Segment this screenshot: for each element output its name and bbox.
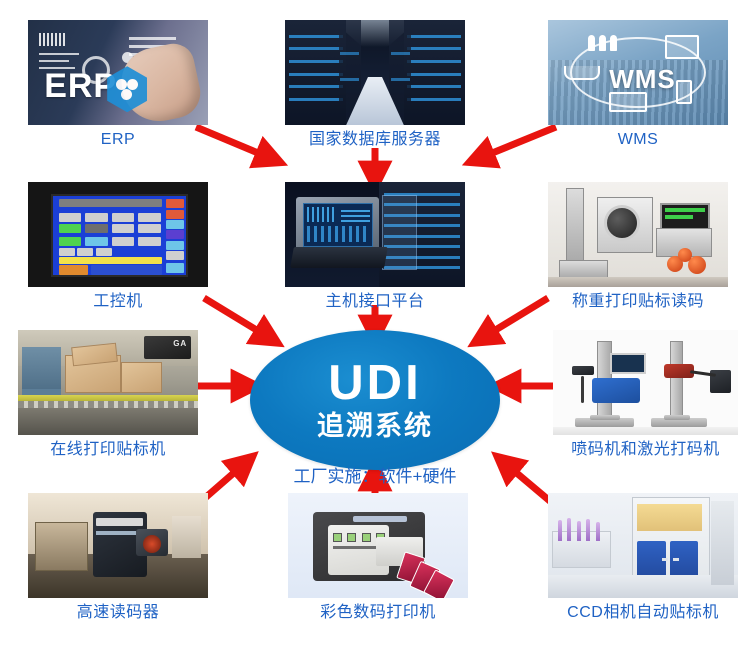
- erp-dashboard-photo: ERP ERP: [28, 20, 208, 125]
- wms-image-text: WMS: [609, 64, 676, 95]
- arrow-weigh-to-center: [484, 298, 548, 337]
- wms-logistics-photo: WMS: [548, 20, 728, 125]
- node-label-fast-reader: 高速读码器: [77, 603, 160, 623]
- server-rack-laptop-photo: [285, 182, 465, 287]
- node-online-labeler[interactable]: GA 在线打印贴标机: [18, 330, 198, 460]
- node-label-color-printer: 彩色数码打印机: [320, 603, 436, 623]
- node-national-db[interactable]: 国家数据库服务器: [285, 20, 465, 150]
- udi-diagram-canvas: UDI 追溯系统 工厂实施：软件+硬件 E: [0, 0, 750, 650]
- server-room-datacenter-photo: [285, 20, 465, 125]
- udi-sub-text: 追溯系统: [317, 410, 433, 442]
- hmi-touch-panel-photo: [28, 182, 208, 287]
- node-fast-reader[interactable]: 高速读码器: [28, 493, 208, 623]
- node-label-industrial-pc: 工控机: [93, 292, 143, 312]
- node-ccd-labeler[interactable]: CCD相机自动贴标机: [548, 493, 738, 623]
- node-label-wms: WMS: [618, 130, 659, 150]
- node-erp[interactable]: ERP ERP ERP: [28, 20, 208, 150]
- barcode-scanner-photo: [28, 493, 208, 598]
- udi-main-text: UDI: [328, 358, 421, 408]
- node-host-interface[interactable]: 主机接口平台: [285, 182, 465, 312]
- node-label-national-db: 国家数据库服务器: [309, 130, 441, 150]
- node-label-laser-marker: 喷码机和激光打码机: [571, 440, 720, 460]
- node-industrial-pc[interactable]: 工控机: [28, 182, 208, 312]
- udi-center-node: UDI 追溯系统: [250, 330, 500, 470]
- node-label-weigh-label: 称重打印贴标读码: [572, 292, 704, 312]
- arrow-ipc-to-center: [204, 298, 268, 337]
- arrow-wms-to-db: [480, 127, 556, 158]
- laser-inkjet-marker-photo: [553, 330, 738, 435]
- ccd-camera-labeler-photo: [548, 493, 738, 598]
- node-label-erp: ERP: [101, 130, 135, 150]
- node-label-host-interface: 主机接口平台: [325, 292, 424, 312]
- node-label-online-labeler: 在线打印贴标机: [50, 440, 166, 460]
- node-weigh-label[interactable]: 称重打印贴标读码: [548, 182, 728, 312]
- color-label-printer-photo: [288, 493, 468, 598]
- conveyor-carton-labeler-photo: GA: [18, 330, 198, 435]
- node-color-printer[interactable]: 彩色数码打印机: [288, 493, 468, 623]
- weigh-label-printer-photo: [548, 182, 728, 287]
- node-laser-marker[interactable]: 喷码机和激光打码机: [553, 330, 738, 460]
- udi-tagline: 工厂实施：软件+硬件: [250, 462, 500, 487]
- node-label-ccd-labeler: CCD相机自动贴标机: [567, 603, 719, 623]
- node-wms[interactable]: WMS WMS: [548, 20, 728, 150]
